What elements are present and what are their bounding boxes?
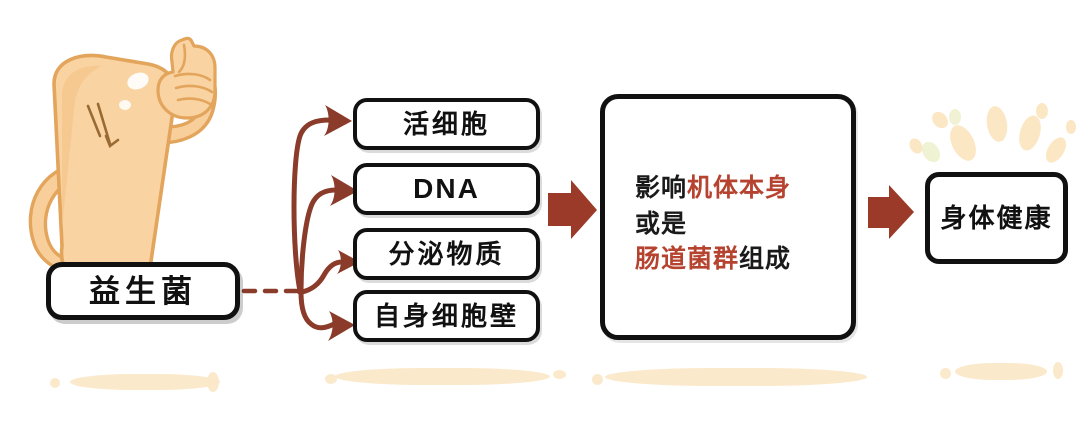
probiotic-source-label[interactable]: 益生菌 bbox=[46, 262, 240, 320]
outcome-box-body-health[interactable]: 身体健康 bbox=[925, 172, 1068, 264]
big-arrow-effect-to-outcome bbox=[868, 185, 914, 239]
effect-line1-prefix: 影响 bbox=[635, 174, 687, 202]
component-box-dna[interactable]: DNA bbox=[353, 163, 540, 215]
mascot-highlight bbox=[119, 100, 131, 110]
infographic-canvas: 益生菌 活细胞 DNA 分泌物质 自身细胞壁 影响机体本身 或是 肠道菌群组成 … bbox=[0, 0, 1080, 427]
effect-line1-highlight: 机体本身 bbox=[687, 174, 791, 202]
effect-line3-highlight: 肠道菌群 bbox=[635, 245, 739, 273]
effect-box[interactable]: 影响机体本身 或是 肠道菌群组成 bbox=[600, 94, 856, 340]
component-box-live-cells[interactable]: 活细胞 bbox=[353, 98, 540, 150]
probiotic-bacterium-mascot bbox=[10, 18, 260, 288]
component-box-cell-wall[interactable]: 自身细胞壁 bbox=[353, 290, 540, 342]
big-arrow-components-to-effect bbox=[548, 180, 597, 239]
component-box-secretions[interactable]: 分泌物质 bbox=[353, 228, 540, 280]
effect-line2: 或是 bbox=[635, 210, 687, 238]
effect-line3-suffix: 组成 bbox=[739, 245, 791, 273]
effect-text: 影响机体本身 或是 肠道菌群组成 bbox=[635, 171, 849, 278]
